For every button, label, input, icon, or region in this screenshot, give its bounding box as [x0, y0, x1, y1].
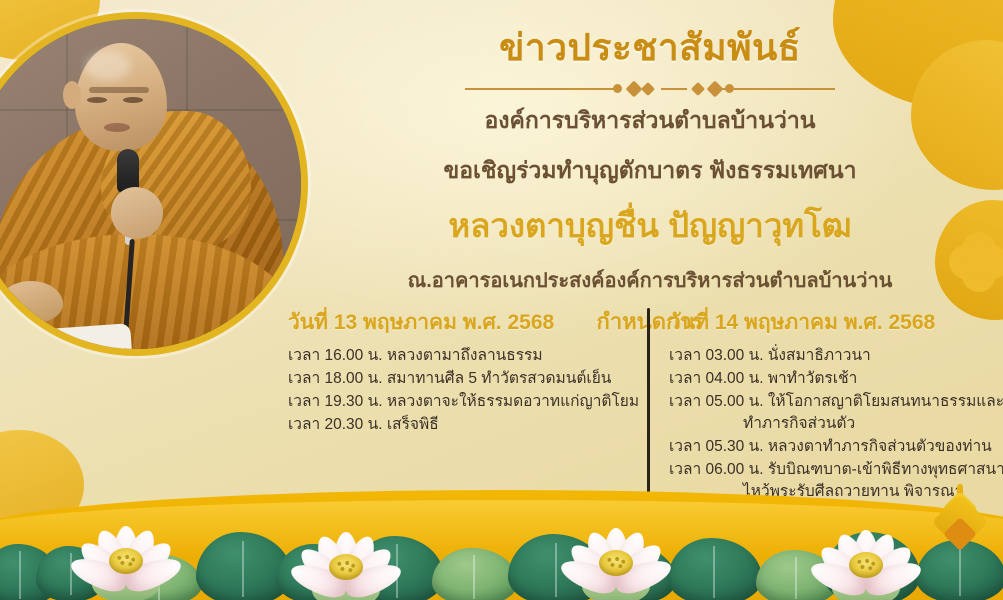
announcement-poster: ข่าวประชาสัมพันธ์ องค์การบริหารส่วนตำบลบ…	[0, 0, 1003, 600]
schedule-text: หลวงตาทำภารกิจส่วนตัวของท่าน	[768, 438, 992, 455]
monk-eye-right	[123, 97, 143, 103]
schedule-text: หลวงตาจะให้ธรรมดอวาทแก่ญาติโยม	[387, 393, 639, 410]
monk-eye-left	[87, 97, 107, 103]
monk-mouth	[104, 123, 130, 132]
title-row: ข่าวประชาสัมพันธ์	[300, 18, 1000, 77]
schedule-time: เวลา 06.00 น.	[669, 461, 764, 478]
schedule-item: เวลา 03.00 น. นั่งสมาธิภาวนา	[669, 345, 1003, 367]
schedule-time: เวลา 05.30 น.	[669, 438, 764, 455]
portrait-image	[0, 19, 301, 349]
schedule-item: เวลา 04.00 น. พาทำวัตรเช้า	[669, 368, 1003, 390]
schedule-text: รับบิณฑบาต-เข้าพิธีทางพุทธศาสนา	[768, 461, 1003, 478]
schedule-time: เวลา 20.30 น.	[288, 416, 383, 433]
schedule-text: สมาทานศีล 5 ทำวัตรสวดมนต์เย็น	[387, 370, 612, 387]
title-divider	[465, 81, 835, 97]
schedule-item: เวลา 16.00 น. หลวงตามาถึงลานธรรม	[288, 345, 633, 367]
schedule-date-day2: วันที่ 14 พฤษภาคม พ.ศ. 2568	[669, 306, 1003, 339]
monk-brow	[89, 87, 149, 93]
schedule-time: เวลา 03.00 น.	[669, 347, 764, 364]
schedule-time: เวลา 05.00 น.	[669, 393, 764, 410]
lotus-flower-icon	[556, 504, 676, 596]
column-divider	[647, 308, 650, 508]
monk-hand-resting	[0, 281, 63, 323]
schedule-time: เวลา 04.00 น.	[669, 370, 764, 387]
invitation-line: ขอเชิญร่วมทำบุญตักบาตร ฟังธรรมเทศนา	[300, 153, 1000, 189]
schedule-text: หลวงตามาถึงลานธรรม	[387, 347, 543, 364]
schedule-text: ให้โอกาสญาติโยมสนทนาธรรมและ	[768, 393, 1003, 410]
schedule-text: นั่งสมาธิภาวนา	[768, 347, 871, 364]
schedule-item: เวลา 19.30 น. หลวงตาจะให้ธรรมดอวาทแก่ญาต…	[288, 391, 633, 413]
schedule-text: เสร็จพิธี	[387, 416, 439, 433]
quatrefoil-left-icon	[447, 31, 481, 65]
venue-line: ณ.อาคารอเนกประสงค์องค์การบริหารส่วนตำบลบ…	[300, 264, 1000, 296]
schedule-item: เวลา 05.00 น. ให้โอกาสญาติโยมสนทนาธรรมแล…	[669, 391, 1003, 435]
quatrefoil-right-icon	[819, 31, 853, 65]
lotus-flower-icon	[66, 502, 186, 594]
schedule-time: เวลา 19.30 น.	[288, 393, 383, 410]
monk-hand	[111, 187, 163, 239]
lotus-flower-icon	[286, 508, 406, 600]
schedule-item: เวลา 18.00 น. สมาทานศีล 5 ทำวัตรสวดมนต์เ…	[288, 368, 633, 390]
schedule-date-day1: วันที่ 13 พฤษภาคม พ.ศ. 2568	[288, 306, 633, 339]
monk-portrait-photo	[0, 12, 308, 356]
page-title: ข่าวประชาสัมพันธ์	[499, 18, 801, 77]
lotus-flower-icon	[806, 506, 926, 598]
schedule-item: เวลา 20.30 น. เสร็จพิธี	[288, 414, 633, 436]
schedule-time: เวลา 16.00 น.	[288, 347, 383, 364]
schedule-time: เวลา 18.00 น.	[288, 370, 383, 387]
thai-gable-icon	[923, 490, 997, 548]
monk-ear	[63, 81, 81, 109]
poster-header: ข่าวประชาสัมพันธ์ องค์การบริหารส่วนตำบลบ…	[300, 18, 1000, 339]
monk-name: หลวงตาบุญชื่น ปัญญาวุทโฒ	[300, 199, 1000, 252]
schedule-text: พาทำวัตรเช้า	[768, 370, 857, 387]
schedule-text-cont: ทำภารกิจส่วนตัว	[669, 413, 1003, 435]
schedule-item: เวลา 05.30 น. หลวงตาทำภารกิจส่วนตัวของท่…	[669, 436, 1003, 458]
organization-name: องค์การบริหารส่วนตำบลบ้านว่าน	[300, 103, 1000, 139]
